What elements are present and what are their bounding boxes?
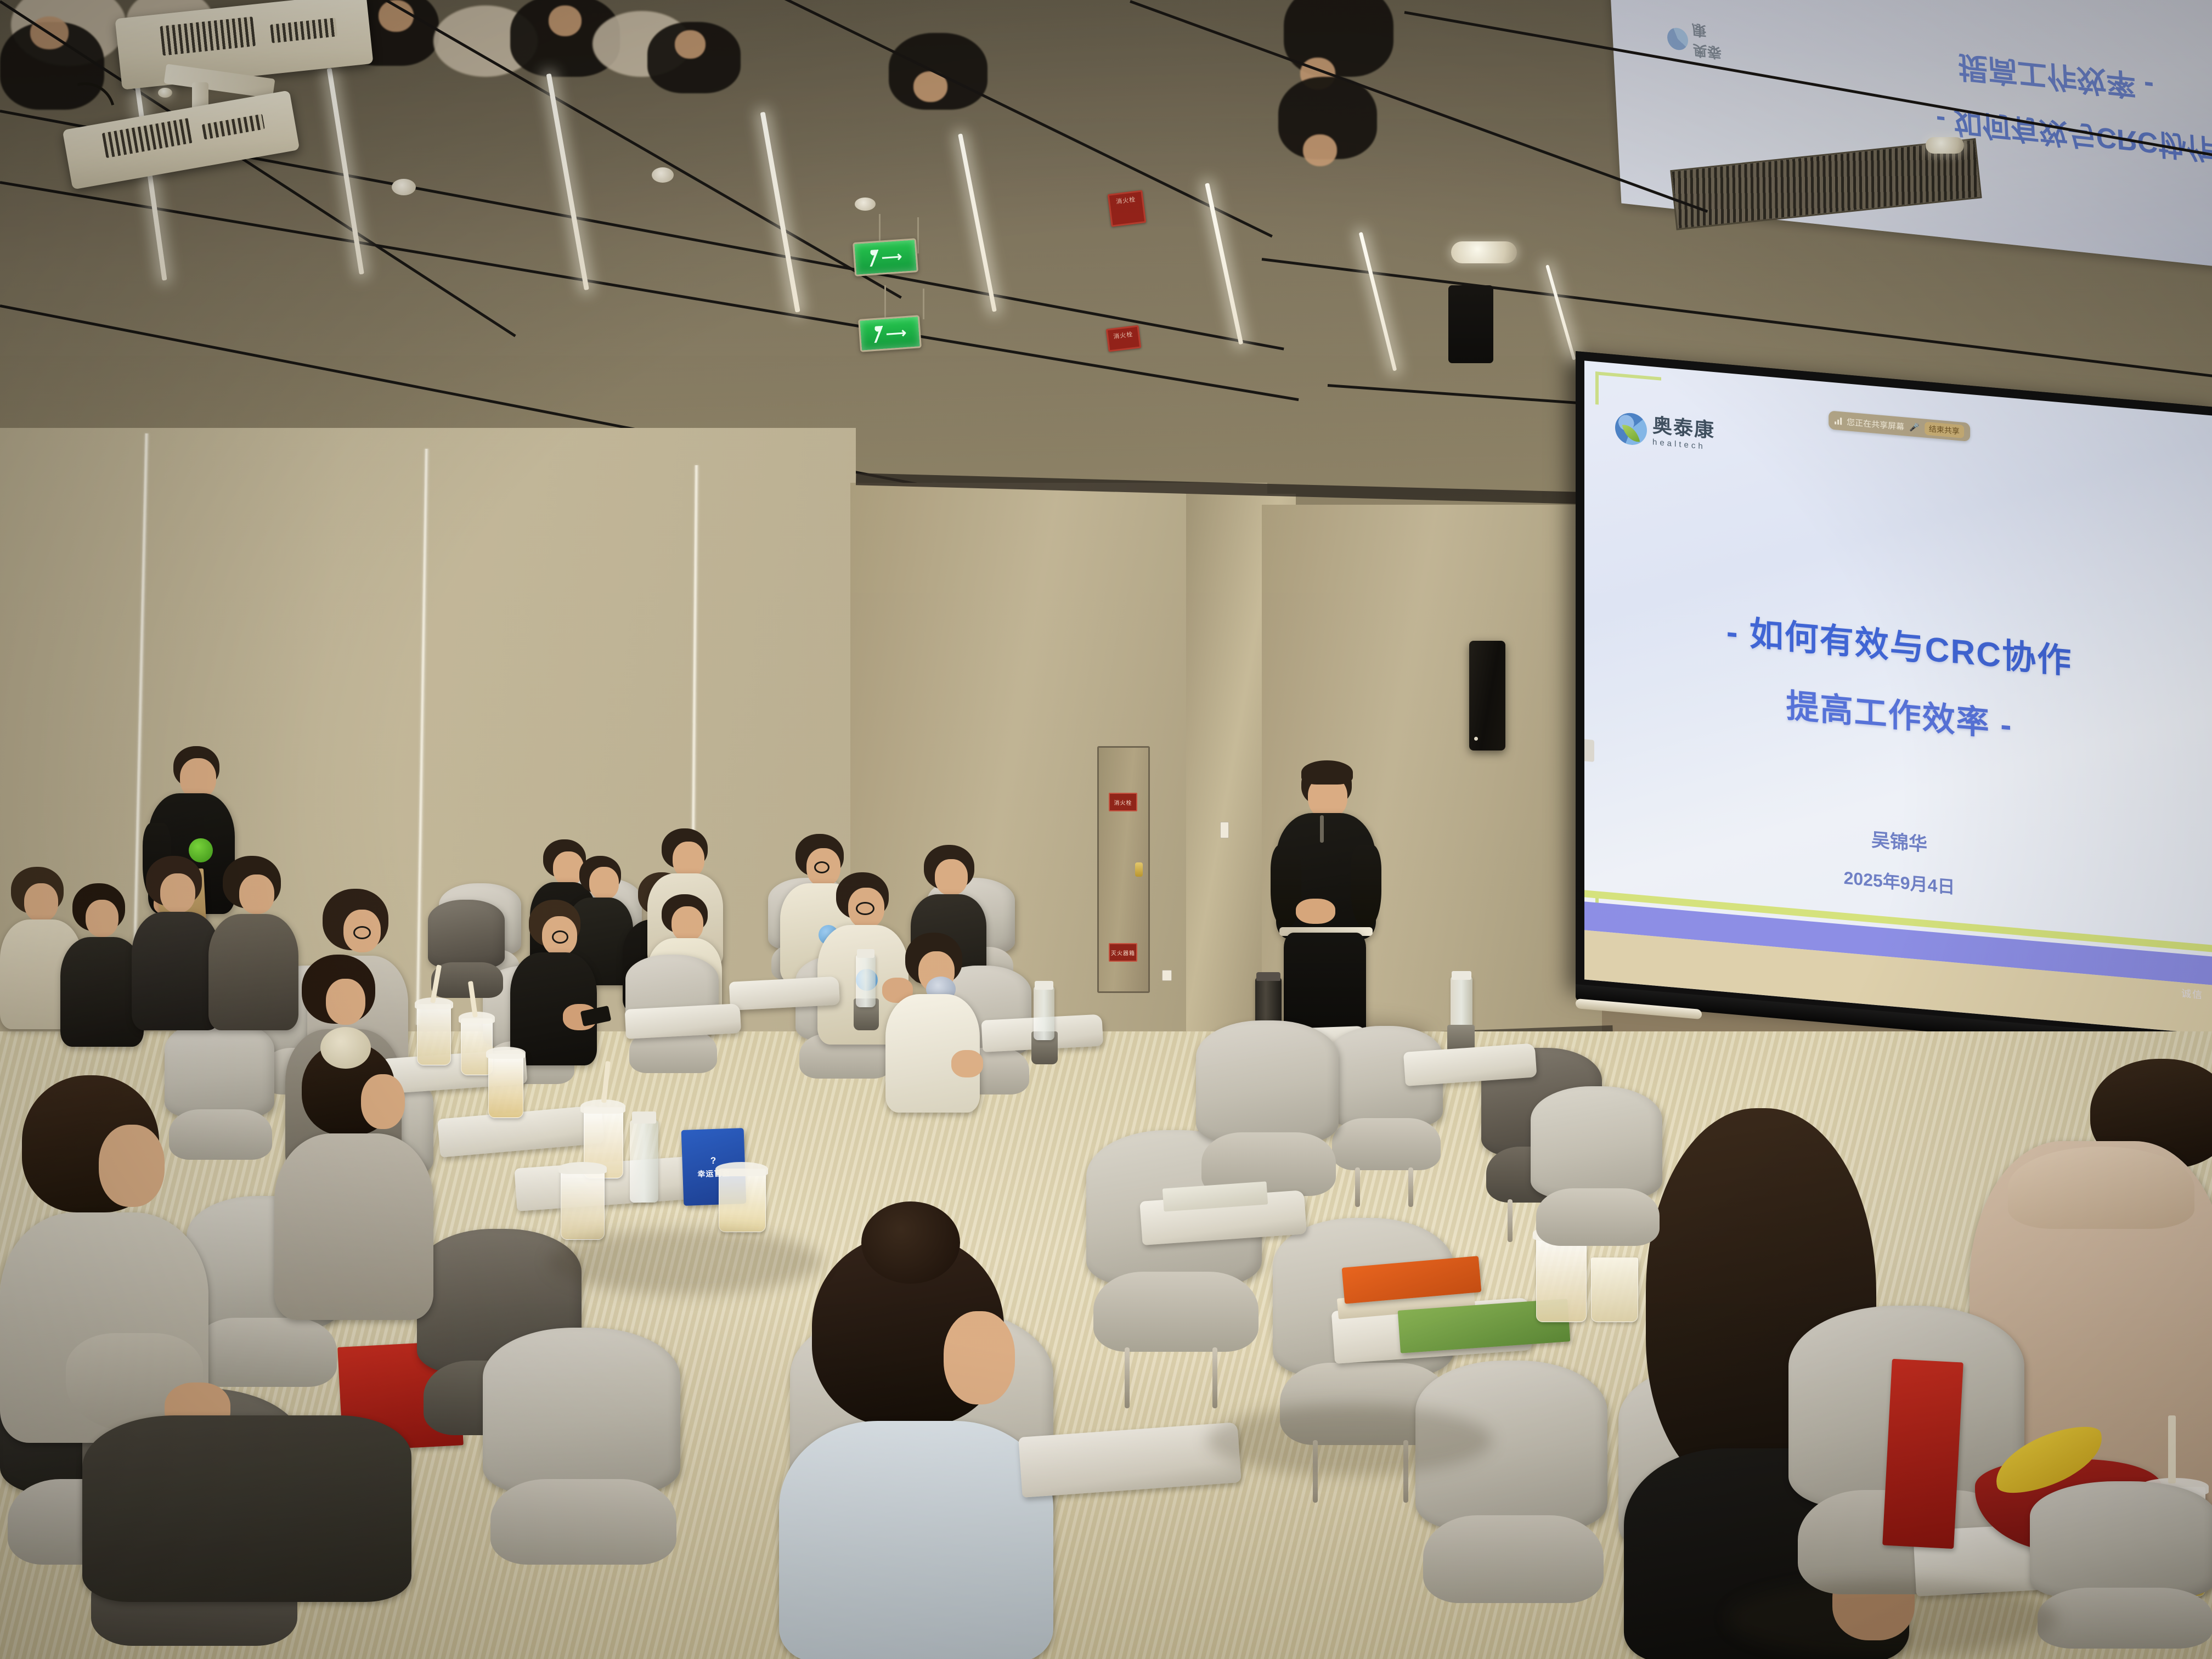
exit-sign-hanger (917, 217, 919, 253)
drinking-straw (2168, 1415, 2176, 1483)
right-arrow-icon: ⟶ (881, 249, 902, 265)
running-person-icon (873, 326, 884, 343)
exit-sign: ⟶ (858, 315, 922, 352)
ceiling-reflection-blob (1303, 134, 1337, 166)
ceiling-reflection-blob (1284, 0, 1393, 77)
fire-equipment-sign: 消火栓 (1106, 325, 1142, 352)
bottle-cap (1035, 981, 1053, 990)
screen-share-toolbar[interactable]: 您正在共享屏幕 🎤 结束共享 (1829, 410, 1970, 442)
floor-shadow (549, 1229, 823, 1295)
water-bottle[interactable] (856, 955, 876, 1007)
hair-scrunchie (320, 1027, 371, 1069)
cup-lid (715, 1162, 768, 1176)
leaf-icon (1622, 423, 1640, 443)
presentation-slide: 奥泰康 healtech 您正在共享屏幕 🎤 结束共享 - 如何有效与CRC协作… (1584, 360, 2212, 1034)
thermos-cap (1256, 972, 1280, 981)
hair-bun (861, 1201, 960, 1284)
wall-switch-plate[interactable] (1220, 822, 1229, 838)
wall-outlet-plate[interactable] (1162, 970, 1172, 981)
chair[interactable] (1415, 1361, 1607, 1618)
hoodie-hood (2008, 1147, 2194, 1229)
smoke-detector (392, 179, 416, 195)
audience-member-foreground (779, 1201, 1064, 1659)
chair[interactable] (483, 1328, 680, 1580)
foreground-face (944, 1311, 1015, 1404)
company-logo: 奥泰康 healtech (1615, 411, 1715, 452)
chair[interactable] (2030, 1481, 2212, 1659)
wall-mounted-speaker (1469, 641, 1505, 751)
chair[interactable] (428, 900, 505, 1004)
ceiling-reflection-blob (549, 5, 582, 36)
chair[interactable] (1328, 1026, 1443, 1180)
ceiling-reflected-logo: 奥泰康 (1691, 20, 1734, 65)
end-share-button[interactable]: 结束共享 (1925, 422, 1964, 438)
microphone-icon[interactable]: 🎤 (1909, 422, 1920, 433)
foreground-trousers (82, 1415, 411, 1602)
chair[interactable] (1531, 1086, 1662, 1256)
exit-sign-hanger (884, 285, 886, 318)
fire-hydrant-label: 消火栓 (1114, 798, 1132, 806)
drink-cup[interactable] (719, 1169, 766, 1232)
bottle-cap (1452, 971, 1471, 980)
presenter-hair-top (1301, 760, 1353, 785)
exit-sign-hanger (923, 289, 924, 319)
running-person-icon (868, 250, 879, 267)
speaker-led-icon (1474, 737, 1478, 741)
water-bottle[interactable] (630, 1120, 658, 1203)
audience-member (883, 933, 982, 1114)
fire-sign-label: 消火栓 (1108, 327, 1138, 341)
fire-hydrant-sign: 消火栓 (1109, 793, 1137, 811)
right-arrow-icon: ⟶ (885, 325, 907, 341)
tablet-arm-desk (625, 1003, 742, 1039)
photo-scene: 提高工作效率 - - 如何有效与CRC协作 2025年9月4日 吴锦华 奥泰康 (0, 0, 2212, 1659)
smoke-detector (855, 198, 876, 211)
slide-corner-decor-top (1595, 371, 1661, 410)
fire-extinguisher-sign: 灭火器箱 (1109, 943, 1137, 962)
foreground-top (779, 1421, 1053, 1659)
audience-member (510, 900, 598, 1064)
fire-extinguisher-label: 灭火器箱 (1111, 949, 1135, 957)
foreground-face (99, 1125, 165, 1207)
floor-shadow (1207, 1404, 1492, 1476)
ceiling-downlight (1926, 137, 1964, 154)
audience-member (274, 1042, 439, 1350)
cup-lid (558, 1162, 607, 1174)
exit-sign: ⟶ (853, 238, 918, 276)
bottle-cap (632, 1111, 656, 1124)
staff-face (180, 758, 216, 799)
slide-footnote: 诚信 (2181, 986, 2203, 1002)
ceiling-reflection-blob (675, 30, 706, 59)
bottle-cap (857, 949, 874, 958)
floor-shadow (1728, 1580, 2057, 1657)
tablet-arm-desk (729, 977, 840, 1011)
smoke-detector (652, 167, 674, 183)
ceiling-black-cylinder-light (1448, 285, 1493, 363)
fire-equipment-sign: 消火栓 (1108, 190, 1147, 227)
globe-icon (1615, 411, 1647, 446)
presenter-shirt-placket (1320, 815, 1324, 843)
fire-hose-cabinet-door[interactable]: 消火栓 灭火器箱 (1097, 746, 1150, 993)
water-bottle[interactable] (1451, 977, 1472, 1031)
ceiling-downlight (158, 88, 172, 98)
water-bottle[interactable] (1034, 986, 1054, 1040)
red-tote-bag[interactable] (1882, 1359, 1963, 1549)
blind-box-question-mark: ? (710, 1155, 717, 1166)
screen-side-tab (1584, 739, 1594, 762)
logo-chinese-name: 奥泰康 (1652, 415, 1715, 441)
ceiling-oval-light (1451, 241, 1517, 263)
presenter-hands (1296, 899, 1335, 924)
share-status-text: 您正在共享屏幕 (1847, 416, 1904, 432)
presenter-right-arm (1351, 845, 1381, 927)
fire-sign-label: 消火栓 (1109, 192, 1142, 207)
chair[interactable] (1196, 1020, 1339, 1207)
cup-lid (486, 1047, 526, 1059)
presenter (1267, 763, 1383, 1053)
projection-screen: 奥泰康 healtech 您正在共享屏幕 🎤 结束共享 - 如何有效与CRC协作… (1576, 351, 2212, 1044)
drink-cup[interactable] (488, 1053, 523, 1118)
signal-bars-icon (1835, 417, 1842, 425)
door-handle[interactable] (1135, 862, 1143, 877)
